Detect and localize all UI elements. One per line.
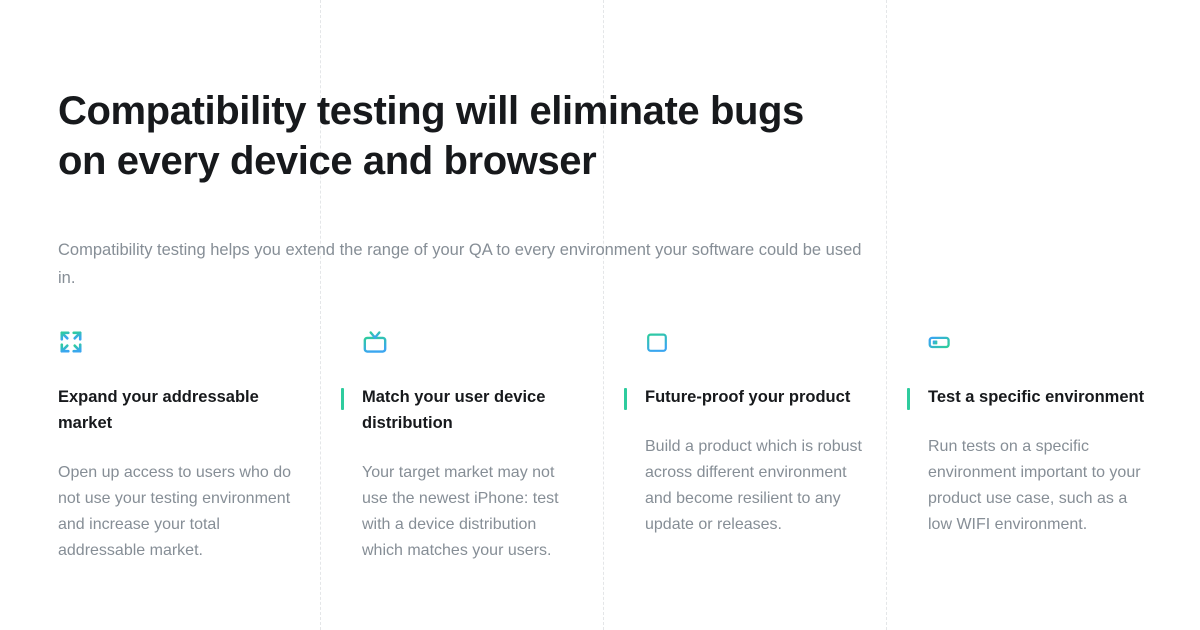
feature-body: Your target market may not use the newes… <box>362 436 580 564</box>
feature-accent-bar <box>907 388 910 410</box>
feature-body: Open up access to users who do not use y… <box>58 436 297 564</box>
feature-title: Expand your addressable market <box>58 359 297 436</box>
feature-accent-bar <box>341 388 344 410</box>
feature-accent-bar <box>624 388 627 410</box>
content-area: Compatibility testing will eliminate bug… <box>58 0 1200 630</box>
feature-title: Match your user device distribution <box>362 359 580 436</box>
maximize-arrows-icon <box>58 325 297 359</box>
feature-title: Future-proof your product <box>645 359 863 410</box>
feature-section-page: Compatibility testing will eliminate bug… <box>0 0 1200 630</box>
page-subtitle: Compatibility testing helps you extend t… <box>58 186 862 292</box>
calendar-icon <box>645 325 863 359</box>
feature-column-2: Match your user device distribution Your… <box>341 325 624 564</box>
tv-icon <box>362 325 580 359</box>
feature-column-3: Future-proof your product Build a produc… <box>624 325 907 564</box>
feature-body: Build a product which is robust across d… <box>645 410 863 538</box>
feature-title: Test a specific environment <box>928 359 1146 410</box>
page-title: Compatibility testing will eliminate bug… <box>58 0 858 186</box>
feature-body: Run tests on a specific environment impo… <box>928 410 1146 538</box>
feature-columns: Expand your addressable market Open up a… <box>58 325 1200 564</box>
battery-low-icon <box>928 325 1146 359</box>
feature-column-4: Test a specific environment Run tests on… <box>907 325 1190 564</box>
feature-column-1: Expand your addressable market Open up a… <box>58 325 341 564</box>
